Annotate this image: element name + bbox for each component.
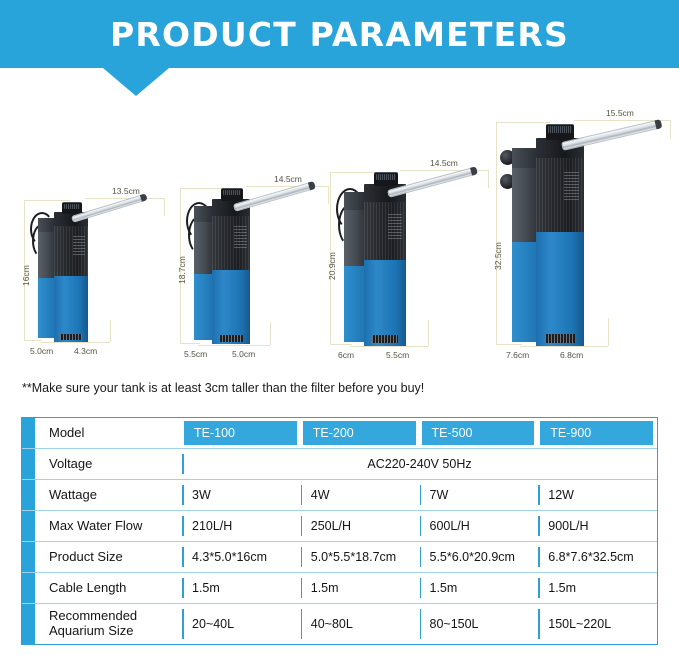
- body-label-plate: [73, 236, 85, 256]
- table-row-voltage: Voltage AC220-240V 50Hz: [22, 449, 657, 480]
- dim-tube-label: 13.5cm: [112, 186, 140, 196]
- body-side-face: [512, 168, 536, 342]
- table-row-recommended-aquarium-size: Recommended Aquarium Size 20~40L 40~80L …: [22, 604, 657, 644]
- dim-tube-label: 15.5cm: [606, 108, 634, 118]
- guide-line: [328, 186, 329, 204]
- row-accent-tab: [22, 542, 35, 572]
- body-label-plate: [234, 226, 247, 250]
- table-cell: TE-500: [420, 418, 539, 448]
- row-accent-tab: [22, 449, 35, 479]
- body-label-plate: [564, 172, 579, 202]
- filter-body: [512, 134, 598, 346]
- dim-depth-label: 5.5cm: [184, 349, 207, 359]
- intake-grill: [545, 334, 575, 343]
- body-side-blue: [512, 242, 536, 342]
- table-cell: 600L/H: [420, 511, 539, 541]
- dim-height-label: 18.7cm: [177, 256, 187, 284]
- body-side-blue: [344, 266, 364, 342]
- guide-line: [428, 320, 429, 346]
- table-cell: 210L/H: [182, 511, 301, 541]
- row-accent-tab: [22, 418, 35, 448]
- guide-line: [608, 318, 609, 346]
- pump-dial: [376, 174, 396, 180]
- table-cell: 1.5m: [182, 573, 301, 603]
- guide-line: [488, 170, 489, 188]
- body-front-blue: [536, 232, 584, 346]
- row-label: Voltage: [35, 449, 182, 479]
- dim-height-label: 32.5cm: [493, 242, 503, 270]
- row-label: Product Size: [35, 542, 182, 572]
- dim-depth-label: 7.6cm: [506, 350, 529, 360]
- table-cell: 4.3*5.0*16cm: [182, 542, 301, 572]
- table-cell: 6.8*7.6*32.5cm: [538, 542, 657, 572]
- table-cell: 4W: [301, 480, 420, 510]
- table-cell: 40~80L: [301, 604, 420, 644]
- model-chip: TE-100: [184, 421, 297, 445]
- body-front-face: [212, 216, 250, 344]
- body-front-face: [364, 202, 406, 346]
- table-cell: TE-200: [301, 418, 420, 448]
- specifications-table: Model TE-100 TE-200 TE-500 TE-900 Voltag…: [21, 417, 658, 645]
- row-label-line2: Aquarium Size: [49, 624, 137, 639]
- body-side-face: [194, 222, 212, 340]
- guide-line: [198, 345, 270, 346]
- dim-depth-label: 6cm: [338, 350, 354, 360]
- table-cell: 1.5m: [538, 573, 657, 603]
- pump-dial: [64, 204, 80, 209]
- dim-width-label: 5.0cm: [232, 349, 255, 359]
- guide-line: [270, 322, 271, 345]
- table-row-model: Model TE-100 TE-200 TE-500 TE-900: [22, 418, 657, 449]
- pump-dial: [548, 126, 572, 133]
- purchase-warning-note: **Make sure your tank is at least 3cm ta…: [22, 381, 424, 395]
- table-cell: 7W: [420, 480, 539, 510]
- intake-grill: [372, 335, 398, 343]
- table-cell: TE-900: [538, 418, 657, 448]
- dim-height-label: 20.9cm: [327, 252, 337, 280]
- table-cell: 900L/H: [538, 511, 657, 541]
- guide-line: [496, 122, 550, 123]
- row-label-line1: Recommended: [49, 609, 137, 624]
- guide-line: [24, 200, 70, 201]
- pump-dial: [223, 190, 241, 195]
- guide-line: [330, 172, 380, 173]
- model-chip: TE-200: [303, 421, 416, 445]
- table-cell: 1.5m: [420, 573, 539, 603]
- table-cell: 3W: [182, 480, 301, 510]
- guide-line: [110, 320, 111, 342]
- top-cap-side: [344, 192, 364, 212]
- table-cell: 250L/H: [301, 511, 420, 541]
- filter-body: [38, 208, 98, 342]
- table-row-max-water-flow: Max Water Flow 210L/H 250L/H 600L/H 900L…: [22, 511, 657, 542]
- intake-grill: [60, 334, 82, 340]
- body-front-face: [536, 158, 584, 346]
- dim-tube-label: 14.5cm: [274, 174, 302, 184]
- table-cell: 5.5*6.0*20.9cm: [420, 542, 539, 572]
- table-cell: 80~150L: [420, 604, 539, 644]
- row-label: Wattage: [35, 480, 182, 510]
- table-row-product-size: Product Size 4.3*5.0*16cm 5.0*5.5*18.7cm…: [22, 542, 657, 573]
- table-row-cable-length: Cable Length 1.5m 1.5m 1.5m 1.5m: [22, 573, 657, 604]
- row-accent-tab: [22, 480, 35, 510]
- body-side-blue: [194, 274, 212, 340]
- table-row-wattage: Wattage 3W 4W 7W 12W: [22, 480, 657, 511]
- row-accent-tab: [22, 511, 35, 541]
- guide-line: [40, 342, 110, 343]
- tube-end-cap: [470, 166, 478, 175]
- page-title: PRODUCT PARAMETERS: [110, 15, 569, 54]
- model-chip: TE-900: [540, 421, 653, 445]
- body-front-blue: [212, 270, 250, 344]
- row-label: Cable Length: [35, 573, 182, 603]
- dim-width-label: 4.3cm: [74, 346, 97, 356]
- dim-width-label: 5.5cm: [386, 350, 409, 360]
- table-cell: 12W: [538, 480, 657, 510]
- dim-width-label: 6.8cm: [560, 350, 583, 360]
- filter-body: [344, 180, 418, 346]
- guide-line: [164, 198, 165, 216]
- guide-line: [670, 120, 671, 138]
- body-label-plate: [388, 214, 402, 240]
- body-front-face: [54, 226, 88, 342]
- table-cell: 150L~220L: [538, 604, 657, 644]
- header-banner: PRODUCT PARAMETERS: [0, 0, 679, 68]
- tube-end-cap: [308, 181, 316, 190]
- guide-line: [520, 346, 608, 347]
- dim-depth-label: 5.0cm: [30, 346, 53, 356]
- body-front-blue: [364, 260, 406, 346]
- body-side-face: [38, 232, 54, 338]
- row-accent-tab: [22, 573, 35, 603]
- model-chip: TE-500: [422, 421, 535, 445]
- row-label: Max Water Flow: [35, 511, 182, 541]
- table-cell: 20~40L: [182, 604, 301, 644]
- table-cell: 5.0*5.5*18.7cm: [301, 542, 420, 572]
- product-parameters-page: PRODUCT PARAMETERS: [0, 0, 679, 655]
- dim-height-label: 16cm: [21, 265, 31, 286]
- table-cell: TE-100: [182, 418, 301, 448]
- body-side-blue: [38, 278, 54, 338]
- body-front-blue: [54, 276, 88, 342]
- table-cell: 1.5m: [301, 573, 420, 603]
- tube-end-cap: [140, 193, 148, 201]
- intake-grill: [219, 335, 243, 342]
- guide-line: [496, 122, 497, 344]
- top-cap-side: [512, 148, 536, 170]
- row-label: Recommended Aquarium Size: [35, 604, 182, 644]
- table-cell-span: AC220-240V 50Hz: [182, 449, 657, 479]
- guide-line: [350, 346, 428, 347]
- guide-line: [246, 186, 328, 187]
- row-label: Model: [35, 418, 182, 448]
- product-illustrations: 16cm 5.0cm 4.3cm 13.5cm: [0, 90, 679, 370]
- dim-tube-label: 14.5cm: [430, 158, 458, 168]
- body-side-face: [344, 210, 364, 342]
- row-accent-tab: [22, 604, 35, 644]
- filter-body: [194, 196, 260, 344]
